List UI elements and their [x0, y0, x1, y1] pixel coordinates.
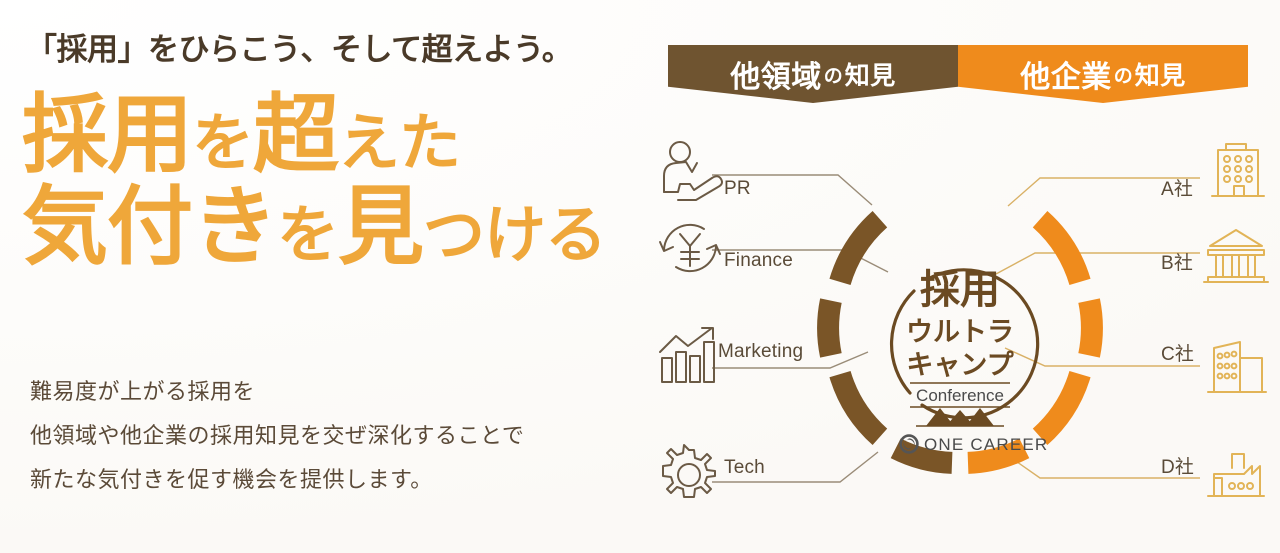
node-label-company-c: C社 [1161, 339, 1194, 366]
bar-chart-arrow-icon [660, 328, 714, 382]
body-line-3: 新たな気付きを促す機会を提供します。 [30, 458, 640, 502]
ring-diagram: PR Finance Marketing Tech A社 B社 C社 D社 [640, 0, 1280, 553]
bank-building-icon [1204, 230, 1268, 282]
headline-seg-1a: 採用 [22, 87, 192, 183]
one-career-aperture-icon [901, 436, 918, 453]
headline-line-1: 採用を超えた [22, 92, 622, 180]
page-title: 採用を超えた 気付きを見つける [22, 92, 622, 271]
node-label-finance: Finance [724, 250, 793, 272]
headline-seg-2b: を [277, 202, 338, 270]
presenter-icon [664, 142, 722, 200]
ring-arc-orange-2 [1089, 301, 1092, 356]
one-career-wordmark: ONE CAREER [924, 435, 1048, 454]
node-label-pr: PR [724, 178, 751, 200]
logo-line-2: ウルトラ [906, 317, 1014, 347]
kicker-text: 「採用」をひらこう、そして超えよう。 [26, 24, 572, 69]
headline-seg-2d: つける [423, 202, 606, 270]
headline-line-2: 気付きを見つける [22, 184, 622, 272]
logo-line-1: 採用 [920, 267, 1000, 312]
office-tower-icon [1212, 144, 1264, 196]
node-label-company-a: A社 [1161, 174, 1193, 201]
twin-tower-icon [1208, 342, 1266, 392]
one-career-lockup: ONE CAREER [901, 435, 1049, 454]
body-copy: 難易度が上がる採用を 他領域や他企業の採用知見を交ぜ深化することで 新たな気付き… [30, 370, 640, 502]
node-label-marketing: Marketing [718, 341, 803, 363]
headline-seg-1d: えた [338, 110, 460, 178]
event-logo-svg: 採用 ウルトラ キャンプ Conference [870, 255, 1050, 455]
body-line-1: 難易度が上がる採用を [30, 370, 640, 414]
body-line-2: 他領域や他企業の採用知見を交ぜ深化することで [30, 414, 640, 458]
logo-line-4: Conference [916, 386, 1004, 405]
factory-icon [1208, 454, 1264, 496]
yen-cycle-icon [660, 225, 720, 271]
mountain-icon [926, 408, 994, 426]
headline-seg-2a: 気付き [22, 179, 277, 275]
gear-icon [663, 445, 715, 497]
diagram-panel: 他領域 の 知見 他企業 の 知見 [640, 0, 1280, 553]
node-label-company-d: D社 [1161, 452, 1194, 479]
node-label-tech: Tech [724, 457, 765, 479]
event-logo: 採用 ウルトラ キャンプ Conference [870, 255, 1050, 455]
hero-copy-panel: 「採用」をひらこう、そして超えよう。 採用を超えた 気付きを見つける 難易度が上… [0, 0, 640, 553]
headline-seg-1b: を [192, 110, 253, 178]
ring-arc-brown-2 [828, 301, 831, 356]
node-label-company-b: B社 [1161, 248, 1193, 275]
page-root: 「採用」をひらこう、そして超えよう。 採用を超えた 気付きを見つける 難易度が上… [0, 0, 1280, 553]
headline-seg-1c: 超 [253, 87, 338, 183]
headline-seg-2c: 見 [338, 179, 423, 275]
logo-line-3: キャンプ [906, 350, 1014, 380]
connector-lines-left [712, 175, 888, 482]
